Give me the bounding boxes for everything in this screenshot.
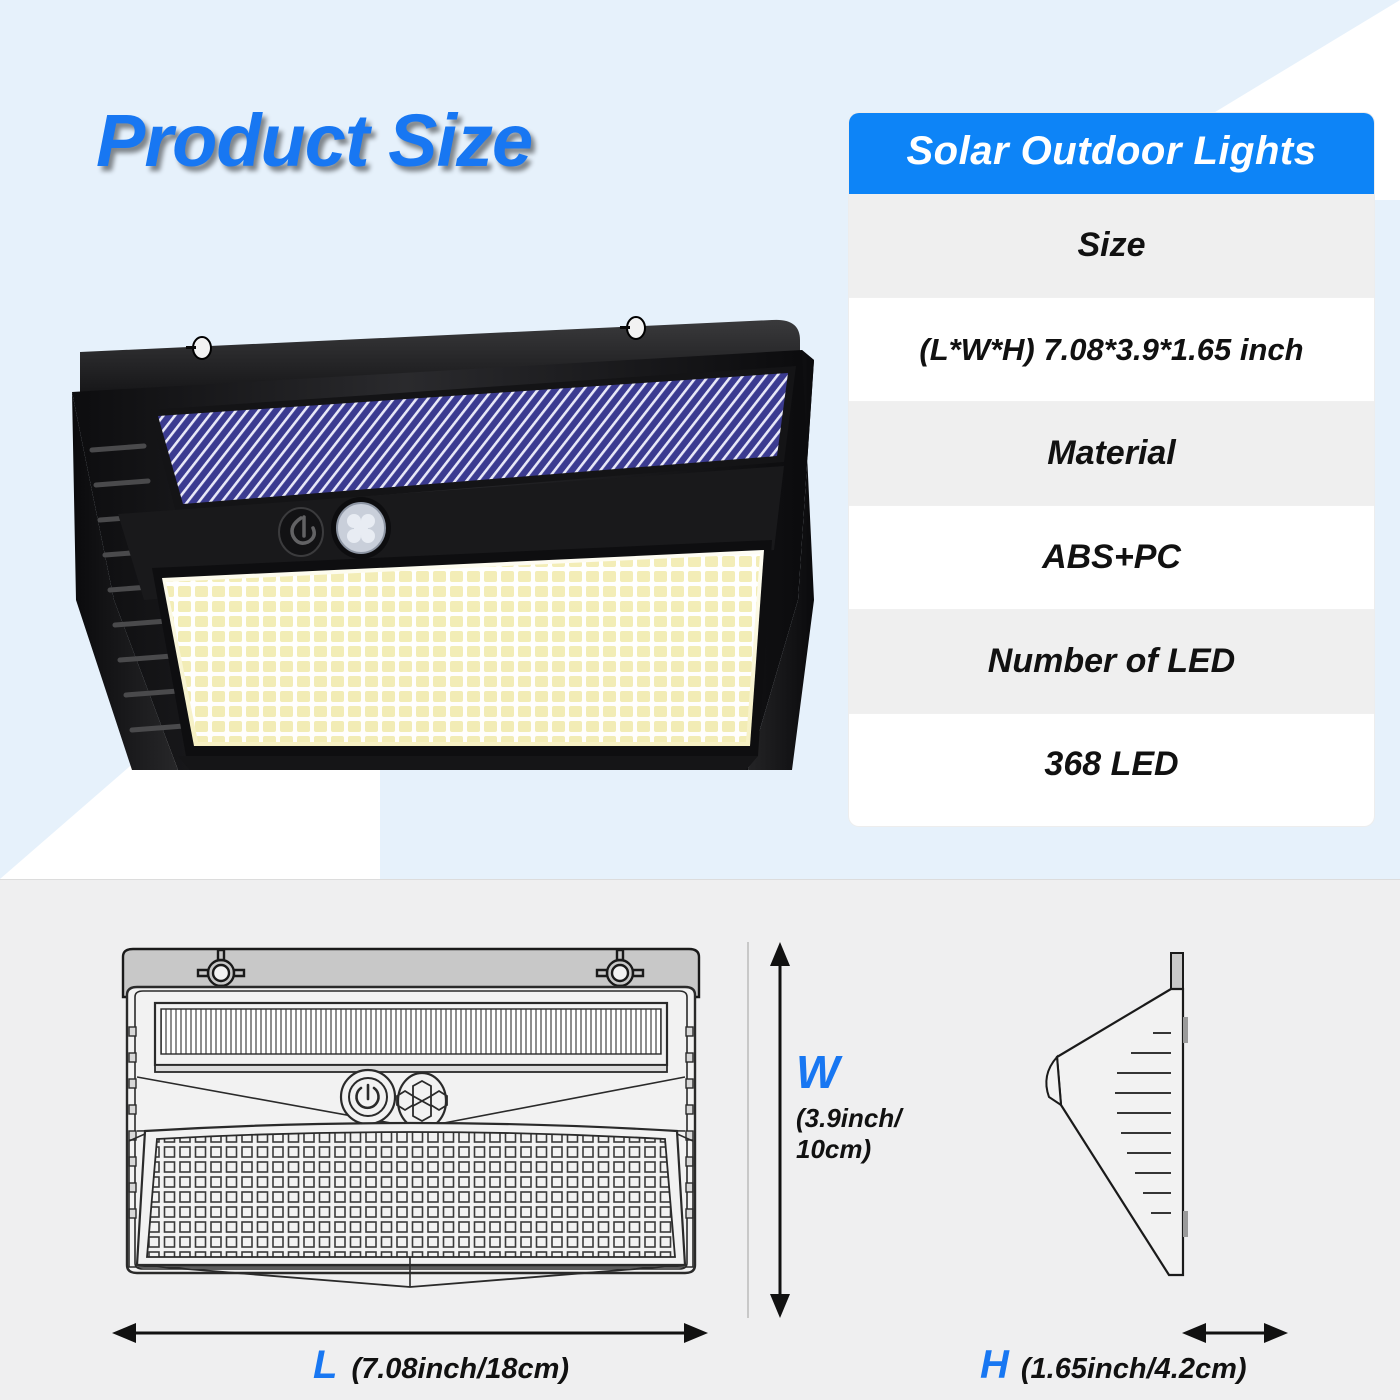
product-photo — [58, 300, 828, 780]
spec-row-size-label: Size — [849, 194, 1374, 298]
height-value: (1.65inch/4.2cm) — [1021, 1353, 1247, 1386]
width-value: (3.9inch/ 10cm) — [796, 1103, 901, 1164]
product-size-infographic: Product Size — [0, 0, 1400, 1400]
side-view-drawing — [1005, 945, 1255, 1295]
length-letter: L — [313, 1343, 337, 1388]
spec-row-material-label: Material — [849, 402, 1374, 506]
width-letter: W — [796, 1045, 901, 1099]
spec-row-led-label: Number of LED — [849, 610, 1374, 714]
front-view-drawing — [85, 935, 735, 1310]
spec-row-size-value: (L*W*H) 7.08*3.9*1.65 inch — [849, 298, 1374, 402]
spec-row-material-value: ABS+PC — [849, 506, 1374, 610]
length-value: (7.08inch/18cm) — [351, 1353, 569, 1386]
spec-table-header: Solar Outdoor Lights — [849, 113, 1374, 194]
spec-row-led-value: 368 LED — [849, 714, 1374, 826]
height-dimension-label: H (1.65inch/4.2cm) — [980, 1343, 1247, 1388]
page-title: Product Size — [96, 98, 532, 183]
spec-table: Solar Outdoor Lights Size (L*W*H) 7.08*3… — [849, 113, 1374, 826]
height-letter: H — [980, 1343, 1009, 1388]
width-dimension-label: W (3.9inch/ 10cm) — [796, 1045, 901, 1164]
length-dimension-label: L (7.08inch/18cm) — [313, 1343, 569, 1388]
